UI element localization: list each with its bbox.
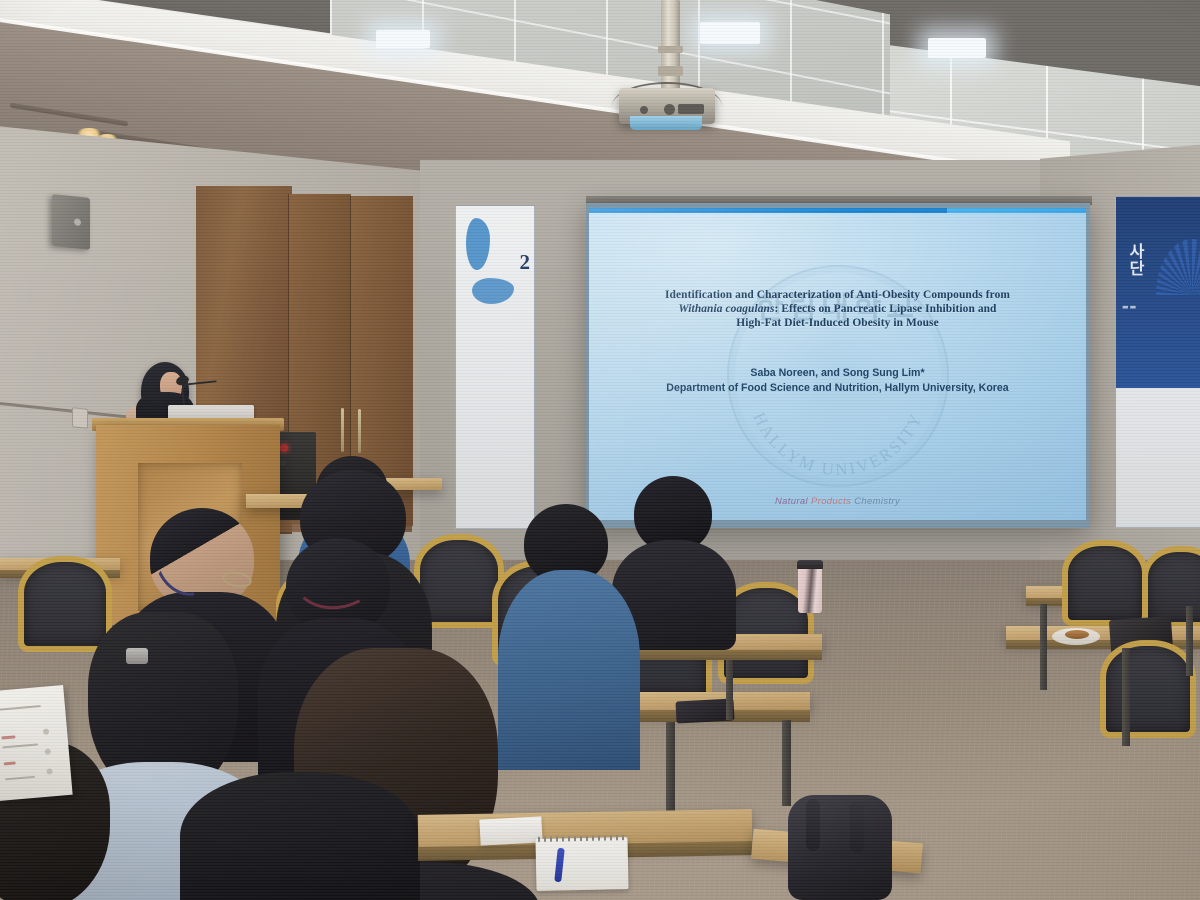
table-leg-right-2	[1122, 648, 1130, 746]
table-leg-mid-1	[666, 722, 675, 814]
program-accent-2	[4, 761, 16, 765]
hair-clip	[126, 648, 148, 664]
slide-title: Identification and Characterization of A…	[589, 288, 1086, 331]
cabinet-handle-right[interactable]	[358, 409, 361, 453]
projector-knob-2	[664, 104, 675, 115]
program-bullet-3	[46, 768, 53, 775]
projector-lens	[630, 116, 702, 130]
table-row-2-edge	[626, 650, 822, 660]
av-status-led	[280, 460, 286, 466]
backpack-strap-left	[806, 799, 820, 851]
chair-back-left-1[interactable]	[18, 556, 100, 640]
footer-word-natural: Natural	[775, 495, 808, 506]
projector-port-panel	[678, 104, 704, 114]
slide-accent-bar	[589, 208, 1086, 213]
footer-word-products: Products	[811, 495, 851, 506]
svg-text:HALLYM UNIVERSITY: HALLYM UNIVERSITY	[749, 410, 926, 476]
ceiling-panel-light-1	[700, 22, 760, 44]
slide-affiliation: Department of Food Science and Nutrition…	[589, 381, 1086, 396]
species-name: Withania coagulans	[678, 303, 774, 315]
program-bullet-1	[43, 728, 50, 735]
loose-papers	[479, 816, 542, 845]
slide-title-line-3: High-Fat Diet-Induced Obesity in Mouse	[589, 316, 1086, 330]
audience-body	[498, 570, 640, 770]
spiral-notepad	[535, 837, 628, 891]
chair-back-panel	[1100, 640, 1196, 738]
banner-left-graphic-2	[472, 278, 514, 304]
banner-right: 사단 ▬▬	[1115, 196, 1200, 528]
presentation-slide: 한림대학교 HALLYM UNIVERSITY Identification a…	[589, 208, 1086, 520]
slide-authors: Saba Noreen, and Song Sung Lim*	[589, 366, 1086, 381]
printed-program[interactable]	[0, 685, 73, 801]
table-leg-mid-2	[782, 720, 791, 806]
cabinet-handle-left[interactable]	[341, 408, 344, 452]
slide-title-line-2-rest: : Effects on Pancreatic Lipase Inhibitio…	[775, 303, 997, 315]
wall-outlet[interactable]	[72, 407, 88, 429]
table-leg-mid-3	[726, 660, 733, 720]
banner-left: 2	[455, 205, 535, 529]
program-accent-1	[1, 735, 15, 739]
wall-speaker-icon	[52, 194, 90, 250]
tumbler-lid	[797, 560, 823, 569]
chair-back-panel	[18, 556, 112, 652]
footer-word-chemistry: Chemistry	[854, 495, 900, 506]
slide-title-line-1: Identification and Characterization of A…	[589, 288, 1086, 302]
chair-back-panel	[1062, 540, 1148, 626]
slide-title-line-2: Withania coagulans: Effects on Pancreati…	[589, 302, 1086, 316]
program-line-2	[2, 743, 38, 748]
pastry	[1065, 630, 1089, 639]
audience-body	[180, 772, 420, 900]
table-leg-right-3	[1186, 606, 1193, 676]
chair-mid-right-1[interactable]	[1100, 640, 1184, 726]
program-line-3	[5, 776, 35, 781]
av-power-led	[280, 444, 288, 452]
banner-left-graphic-1	[466, 218, 490, 270]
table-leg-right-1	[1040, 604, 1047, 690]
projector-mount-pole	[661, 0, 680, 92]
ceiling-panel-light-2	[928, 38, 986, 58]
banner-left-number: 2	[520, 250, 531, 275]
program-line-1	[0, 705, 41, 711]
backpack-strap-right	[850, 801, 864, 853]
chair-back-right-1[interactable]	[1062, 540, 1136, 614]
banner-right-subtext: ▬▬	[1122, 303, 1137, 311]
projector-knob-1	[640, 106, 648, 114]
banner-right-korean-text: 사단	[1123, 243, 1147, 277]
tumbler-body	[798, 565, 822, 613]
program-bullet-2	[45, 748, 52, 755]
backpack	[788, 795, 892, 900]
ceiling-panel-light-3	[376, 30, 430, 48]
conference-room-photo: 2 사단 ▬▬ 한림대학교 HALLYM UNIVERSITY Identifi…	[0, 0, 1200, 900]
slide-author-block: Saba Noreen, and Song Sung Lim* Departme…	[589, 366, 1086, 395]
